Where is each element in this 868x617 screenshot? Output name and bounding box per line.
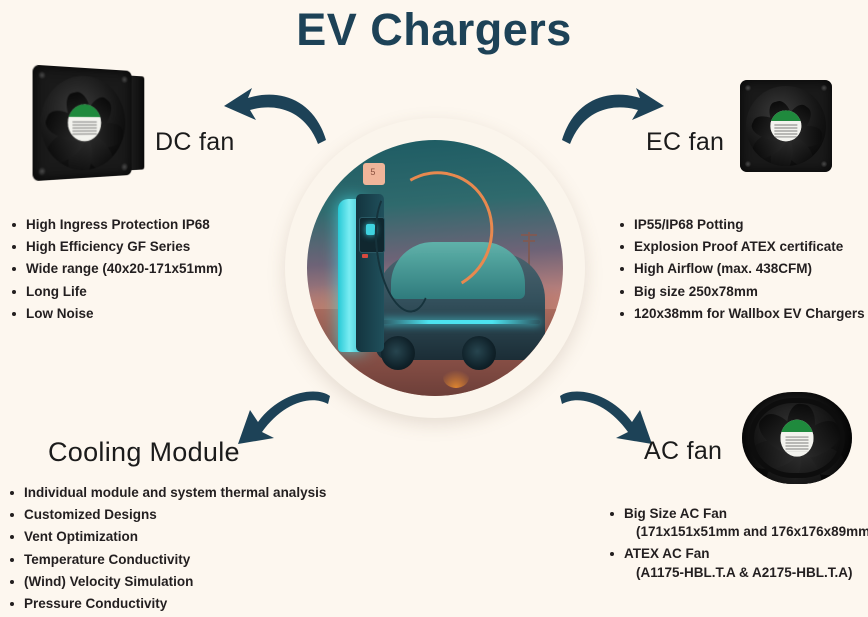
arrow-to-dc-fan — [218, 82, 330, 150]
list-item: Pressure Conductivity — [8, 595, 326, 613]
list-item: Big Size AC Fan (171x151x51mm and 176x17… — [608, 505, 868, 541]
illustration-charger-indicator — [362, 254, 368, 258]
list-item: High Airflow (max. 438CFM) — [618, 260, 865, 278]
list-item: Wide range (40x20-171x51mm) — [10, 260, 222, 278]
fan-hub-label — [781, 420, 814, 457]
bullets-ec-fan: IP55/IP68 Potting Explosion Proof ATEX c… — [618, 216, 865, 327]
list-item: Big size 250x78mm — [618, 283, 865, 301]
fan-housing — [33, 65, 132, 182]
heading-ec-fan: EC fan — [646, 128, 724, 157]
fan-screw — [38, 167, 46, 175]
page-title: EV Chargers — [0, 4, 868, 56]
fan-screw — [38, 71, 46, 79]
bullets-cooling-module: Individual module and system thermal ana… — [8, 484, 326, 617]
illustration-desert-bush — [443, 366, 469, 388]
fan-hub-label — [770, 110, 801, 141]
list-item: IP55/IP68 Potting — [618, 216, 865, 234]
ac-oval-fan-front — [742, 392, 852, 484]
illustration-car-lightbar — [381, 320, 540, 324]
list-item-main: ATEX AC Fan — [624, 546, 710, 561]
bullets-ac-fan: Big Size AC Fan (171x151x51mm and 176x17… — [608, 505, 868, 586]
fan-housing — [742, 392, 852, 484]
list-item: Long Life — [10, 283, 222, 301]
list-item: Explosion Proof ATEX certificate — [618, 238, 865, 256]
list-item: Customized Designs — [8, 506, 326, 524]
list-item: High Efficiency GF Series — [10, 238, 222, 256]
list-item: Temperature Conductivity — [8, 551, 326, 569]
illustration-charger-screen-display — [366, 224, 375, 235]
list-item-sub: (171x151x51mm and 176x176x89mm) — [624, 523, 868, 541]
heading-dc-fan: DC fan — [155, 128, 235, 157]
ec-axial-fan-front — [740, 80, 832, 172]
heading-cooling-module: Cooling Module — [48, 437, 240, 468]
list-item: Vent Optimization — [8, 528, 326, 546]
list-item-main: Big Size AC Fan — [624, 506, 727, 521]
ev-charging-station-illustration: 5 — [307, 140, 563, 396]
list-item: (Wind) Velocity Simulation — [8, 573, 326, 591]
list-item-sub: (A1175-HBL.T.A & A2175-HBL.T.A) — [624, 564, 868, 582]
dc-axial-fan-angled — [33, 65, 132, 182]
list-item: ATEX AC Fan (A1175-HBL.T.A & A2175-HBL.T… — [608, 545, 868, 581]
arrow-to-cooling-module — [224, 382, 334, 452]
list-item: 120x38mm for Wallbox EV Chargers — [618, 305, 865, 323]
fan-screw — [745, 161, 751, 167]
bullets-dc-fan: High Ingress Protection IP68 High Effici… — [10, 216, 222, 327]
list-item: Individual module and system thermal ana… — [8, 484, 326, 502]
list-item: High Ingress Protection IP68 — [10, 216, 222, 234]
center-image-circle: 5 — [285, 118, 585, 418]
fan-screw — [745, 85, 751, 91]
fan-screw — [121, 163, 127, 171]
heading-ac-fan: AC fan — [644, 437, 722, 466]
fan-hub-label — [68, 104, 102, 142]
fan-screw — [821, 161, 827, 167]
infographic-canvas: EV Chargers 5 — [0, 0, 868, 600]
fan-screw — [121, 76, 127, 84]
fan-screw — [821, 85, 827, 91]
fan-blade-ring — [40, 73, 125, 173]
fan-housing — [740, 80, 832, 172]
list-item: Low Noise — [10, 305, 222, 323]
illustration-charger-sign: 5 — [363, 163, 385, 185]
